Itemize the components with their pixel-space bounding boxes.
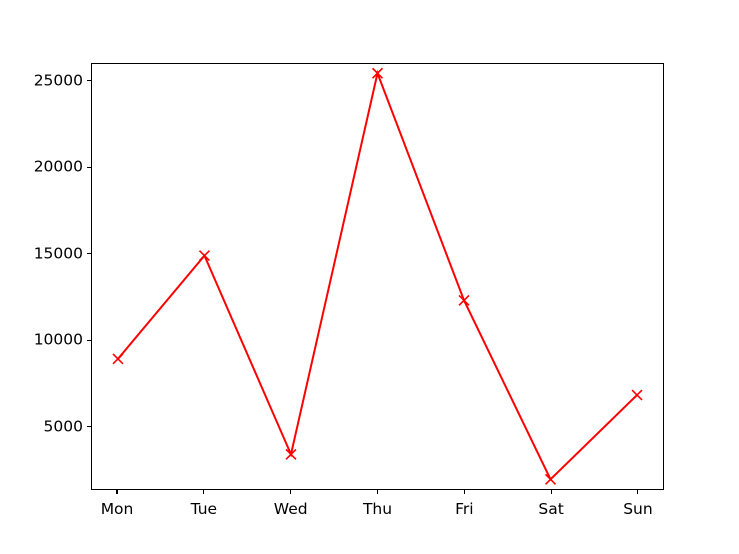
x-axis-tick-label: Thu: [363, 502, 392, 518]
x-axis-tick-mark: [551, 490, 552, 494]
plot-area: [91, 63, 664, 490]
y-axis-tick-label: 15000: [34, 246, 83, 262]
x-axis-tick-label: Sun: [623, 502, 653, 518]
data-point-marker: [113, 354, 123, 364]
y-axis-tick-mark: [87, 253, 91, 254]
line-series-path: [118, 73, 637, 479]
y-axis-tick-mark: [87, 426, 91, 427]
x-axis-tick-mark: [464, 490, 465, 494]
chart-figure: 500010000150002000025000MonTueWedThuFriS…: [0, 0, 739, 554]
x-axis-tick-mark: [377, 490, 378, 494]
data-point-marker: [546, 474, 556, 484]
y-axis-tick-mark: [87, 167, 91, 168]
x-axis-tick-mark: [637, 490, 638, 494]
y-axis-tick-label: 20000: [34, 160, 83, 176]
y-axis-tick-label: 25000: [34, 73, 83, 89]
x-axis-tick-label: Sat: [538, 502, 563, 518]
x-axis-tick-label: Mon: [101, 502, 134, 518]
x-axis-tick-label: Wed: [274, 502, 308, 518]
y-axis-tick-mark: [87, 80, 91, 81]
data-point-marker: [459, 295, 469, 305]
line-series-svg: [92, 64, 663, 489]
x-axis-tick-label: Tue: [191, 502, 217, 518]
x-axis-tick-mark: [203, 490, 204, 494]
x-axis-tick-mark: [290, 490, 291, 494]
x-axis-tick-mark: [116, 490, 117, 494]
x-axis-tick-label: Fri: [455, 502, 473, 518]
y-axis-tick-mark: [87, 340, 91, 341]
y-axis-tick-label: 10000: [34, 332, 83, 348]
data-point-marker: [632, 390, 642, 400]
marker-group: [113, 68, 642, 484]
data-point-marker: [199, 251, 209, 261]
y-axis-tick-label: 5000: [44, 419, 83, 435]
